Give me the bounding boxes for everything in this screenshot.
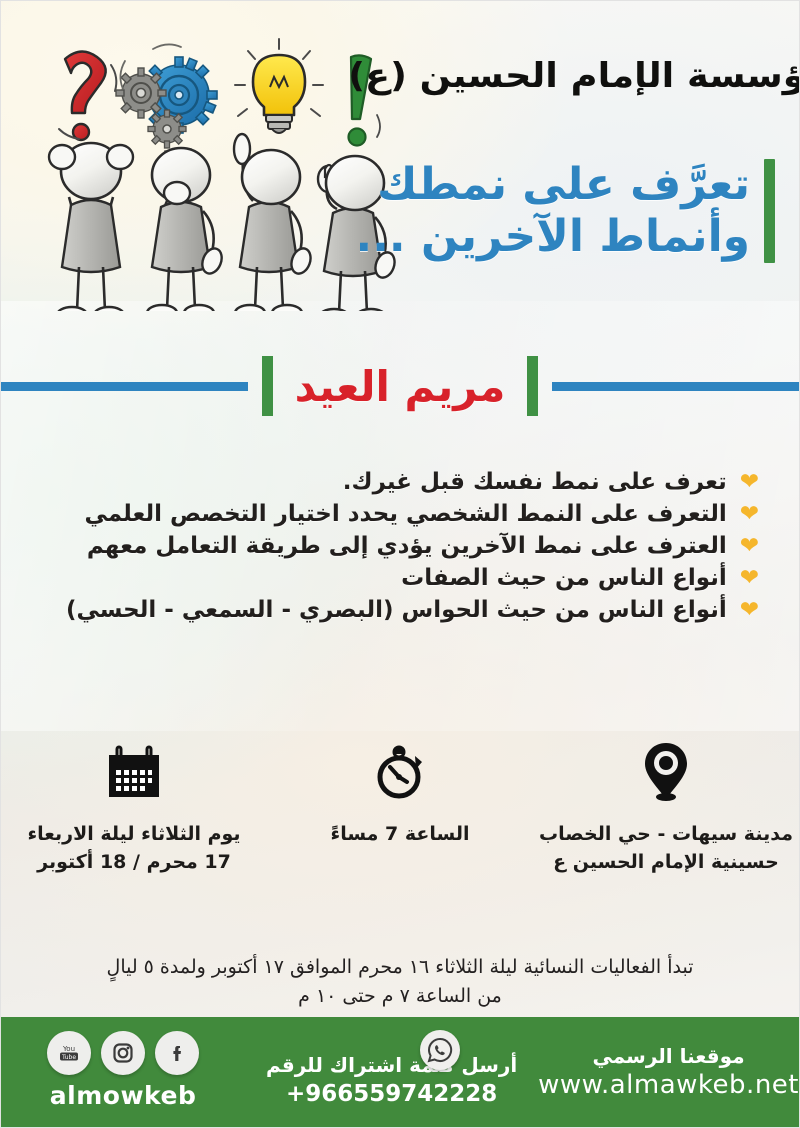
stick-figure-thinking xyxy=(147,148,225,311)
stick-figure-idea xyxy=(234,134,314,311)
list-item: ❤ التعرف على النمط الشخصي يحدد اختيار ال… xyxy=(41,501,759,527)
speaker-name: مريم العيد xyxy=(287,362,514,411)
location-pin-icon xyxy=(641,737,691,807)
event-time-line-1: الساعة 7 مساءً xyxy=(330,821,469,849)
schedule-note-line-1: تبدأ الفعاليات النسائية ليلة الثلاثاء ١٦… xyxy=(1,953,799,982)
facebook-icon[interactable] xyxy=(155,1031,199,1075)
list-item-label: أنواع الناس من حيث الحواس (البصري - السم… xyxy=(66,597,727,623)
social-handle: almowkeb xyxy=(50,1081,197,1110)
list-item: ❤ تعرف على نمط نفسك قبل غيرك. xyxy=(41,469,759,495)
topics-list: ❤ تعرف على نمط نفسك قبل غيرك. ❤ التعرف ع… xyxy=(41,469,759,623)
svg-text:You: You xyxy=(62,1045,75,1053)
speaker-accent-bar-right xyxy=(527,356,538,416)
event-location-line-2: حسينية الإمام الحسين ع xyxy=(553,849,779,877)
stick-figure-confused xyxy=(49,143,133,311)
schedule-note: تبدأ الفعاليات النسائية ليلة الثلاثاء ١٦… xyxy=(1,953,799,1010)
heart-icon: ❤ xyxy=(740,567,759,590)
stopwatch-icon xyxy=(373,737,427,807)
social-icon-row: You Tube xyxy=(47,1031,199,1075)
title-line-1: تعرَّف على نمطك xyxy=(356,159,751,211)
event-location-block: مدينة سيهات - حي الخصاب حسينية الإمام ال… xyxy=(533,737,799,876)
list-item: ❤ أنواع الناس من حيث الحواس (البصري - ال… xyxy=(41,597,759,623)
speaker-accent-bar-left xyxy=(262,356,273,416)
footer-website-block: موقعنا الرسمي www.almawkeb.net xyxy=(538,1044,799,1100)
heart-icon: ❤ xyxy=(740,535,759,558)
heart-icon: ❤ xyxy=(740,471,759,494)
website-url[interactable]: www.almawkeb.net xyxy=(538,1070,799,1100)
svg-text:Tube: Tube xyxy=(61,1054,76,1061)
instagram-icon[interactable] xyxy=(101,1031,145,1075)
website-label: موقعنا الرسمي xyxy=(593,1044,745,1068)
event-time-block: الساعة 7 مساءً xyxy=(267,737,533,849)
title-line-2: وأنماط الآخرين ... xyxy=(356,211,751,263)
youtube-icon[interactable]: You Tube xyxy=(47,1031,91,1075)
event-date-line-1: يوم الثلاثاء ليلة الاربعاء xyxy=(27,821,240,849)
list-item-label: تعرف على نمط نفسك قبل غيرك. xyxy=(343,469,727,495)
whatsapp-number[interactable]: +966559742228 xyxy=(286,1080,497,1110)
footer-bar: موقعنا الرسمي www.almawkeb.net أرسل كلمة… xyxy=(1,1017,799,1127)
event-poster: مؤسسة الإمام الحسين (ع) تعرَّف على نمطك … xyxy=(0,0,800,1128)
list-item: ❤ العترف على نمط الآخرين يؤدي إلى طريقة … xyxy=(41,533,759,559)
question-mark-symbol xyxy=(59,51,116,140)
list-item-label: العترف على نمط الآخرين يؤدي إلى طريقة ال… xyxy=(87,533,727,559)
speaker-row: مريم العيد xyxy=(1,353,799,419)
heart-icon: ❤ xyxy=(740,503,759,526)
speaker-rule-left xyxy=(1,382,248,391)
poster-title: تعرَّف على نمطك وأنماط الآخرين ... xyxy=(356,159,776,263)
list-item-label: التعرف على النمط الشخصي يحدد اختيار التخ… xyxy=(84,501,726,527)
organization-logo: مؤسسة الإمام الحسين (ع) xyxy=(403,31,773,121)
schedule-note-line-2: من الساعة ٧ م حتى ١٠ م xyxy=(1,982,799,1011)
event-location-line-1: مدينة سيهات - حي الخصاب xyxy=(539,821,793,849)
lightbulb-symbol xyxy=(235,39,323,133)
title-accent-bar xyxy=(764,159,775,263)
list-item: ❤ أنواع الناس من حيث الصفات xyxy=(41,565,759,591)
event-details-row: يوم الثلاثاء ليلة الاربعاء 17 محرم / 18 … xyxy=(1,737,799,876)
whatsapp-icon[interactable] xyxy=(420,1030,460,1070)
calendar-icon xyxy=(105,737,163,807)
gears-symbol xyxy=(116,44,217,153)
heart-icon: ❤ xyxy=(740,599,759,622)
whatsapp-label: أرسل كلمة اشتراك للرقم xyxy=(266,1052,517,1078)
event-date-line-2: 17 محرم / 18 أكتوبر xyxy=(37,849,231,877)
event-date-block: يوم الثلاثاء ليلة الاربعاء 17 محرم / 18 … xyxy=(1,737,267,876)
speaker-rule-right xyxy=(552,382,799,391)
footer-social-block: You Tube almowkeb xyxy=(1,1031,245,1114)
organization-logo-text: مؤسسة الإمام الحسين (ع) xyxy=(348,56,800,96)
list-item-label: أنواع الناس من حيث الصفات xyxy=(401,565,727,591)
footer-whatsapp-block: أرسل كلمة اشتراك للرقم +966559742228 xyxy=(245,1034,538,1110)
